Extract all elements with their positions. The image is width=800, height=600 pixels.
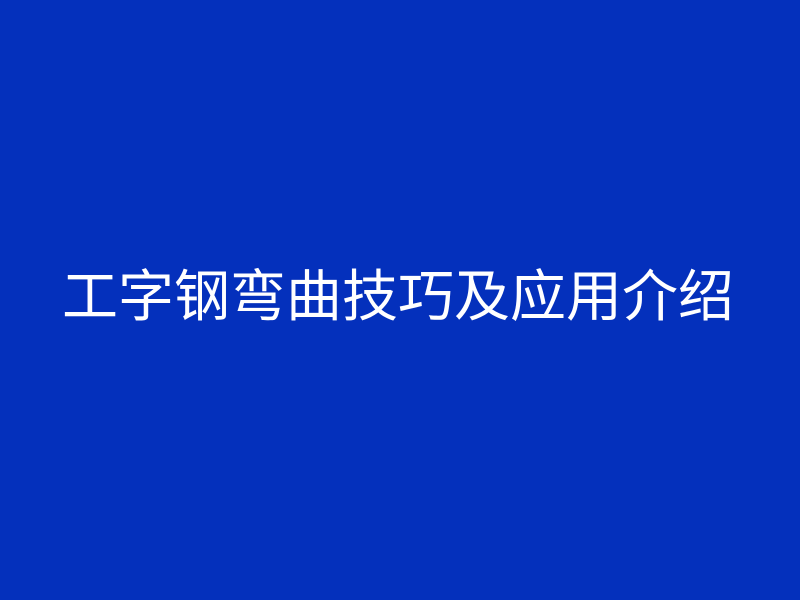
page-title: 工字钢弯曲技巧及应用介绍 (62, 270, 734, 326)
title-slide: 工字钢弯曲技巧及应用介绍 (0, 0, 800, 600)
headline-block: 工字钢弯曲技巧及应用介绍 (0, 262, 800, 334)
